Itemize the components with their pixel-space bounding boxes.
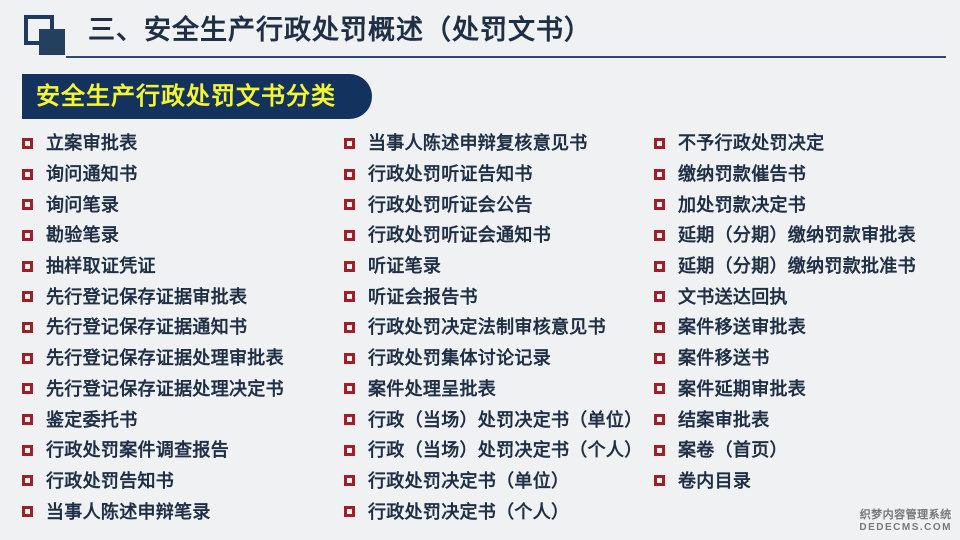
list-item[interactable]: 立案审批表 <box>22 128 342 159</box>
list-item-label: 当事人陈述申辩复核意见书 <box>368 132 588 154</box>
list-item-label: 延期（分期）缴纳罚款批准书 <box>678 255 916 277</box>
list-item-label: 行政（当场）处罚决定书（个人） <box>368 439 643 461</box>
hollow-square-bullet-icon <box>654 230 665 241</box>
hollow-square-bullet-icon <box>654 475 665 486</box>
list-item[interactable]: 延期（分期）缴纳罚款审批表 <box>654 220 954 251</box>
list-item[interactable]: 行政（当场）处罚决定书（个人） <box>344 435 654 466</box>
list-item-label: 询问笔录 <box>46 194 119 216</box>
hollow-square-bullet-icon <box>654 199 665 210</box>
list-item-label: 文书送达回执 <box>678 286 788 308</box>
watermark-en-text: DEDECMS.COM <box>859 522 952 534</box>
hollow-square-bullet-icon <box>22 169 33 180</box>
list-item[interactable]: 案卷（首页） <box>654 435 954 466</box>
hollow-square-bullet-icon <box>344 322 355 333</box>
list-item-label: 抽样取证凭证 <box>46 255 156 277</box>
watermark: 织梦内容管理系统 DEDECMS.COM <box>859 509 952 534</box>
hollow-square-bullet-icon <box>344 230 355 241</box>
list-item[interactable]: 卷内目录 <box>654 466 954 497</box>
list-item-label: 鉴定委托书 <box>46 409 138 431</box>
hollow-square-bullet-icon <box>22 291 33 302</box>
hollow-square-bullet-icon <box>344 445 355 456</box>
overlapping-squares-icon <box>24 15 68 57</box>
list-item[interactable]: 行政（当场）处罚决定书（单位） <box>344 404 654 435</box>
hollow-square-bullet-icon <box>344 169 355 180</box>
list-item[interactable]: 行政处罚决定书（单位） <box>344 466 654 497</box>
slide-root: 三、安全生产行政处罚概述（处罚文书） 安全生产行政处罚文书分类 立案审批表询问通… <box>0 0 960 540</box>
list-item[interactable]: 先行登记保存证据通知书 <box>22 312 342 343</box>
list-item-label: 案件处理呈批表 <box>368 378 496 400</box>
hollow-square-bullet-icon <box>654 383 665 394</box>
list-item-label: 行政处罚集体讨论记录 <box>368 347 551 369</box>
list-item[interactable]: 加处罚款决定书 <box>654 189 954 220</box>
hollow-square-bullet-icon <box>22 138 33 149</box>
list-item-label: 不予行政处罚决定 <box>678 132 824 154</box>
document-list-columns: 立案审批表询问通知书询问笔录勘验笔录抽样取证凭证先行登记保存证据审批表先行登记保… <box>0 128 960 528</box>
list-item-label: 听证会报告书 <box>368 286 478 308</box>
hollow-square-bullet-icon <box>22 353 33 364</box>
list-item[interactable]: 询问通知书 <box>22 159 342 190</box>
list-item-label: 案件移送书 <box>678 347 770 369</box>
list-item[interactable]: 结案审批表 <box>654 404 954 435</box>
list-item[interactable]: 行政处罚听证告知书 <box>344 159 654 190</box>
hollow-square-bullet-icon <box>654 353 665 364</box>
list-item[interactable]: 行政处罚决定法制审核意见书 <box>344 312 654 343</box>
hollow-square-bullet-icon <box>344 475 355 486</box>
list-item-label: 案卷（首页） <box>678 439 788 461</box>
header-divider <box>66 56 946 58</box>
list-item[interactable]: 行政处罚听证会公告 <box>344 189 654 220</box>
hollow-square-bullet-icon <box>654 169 665 180</box>
list-item-label: 先行登记保存证据处理决定书 <box>46 378 284 400</box>
hollow-square-bullet-icon <box>344 383 355 394</box>
list-item[interactable]: 延期（分期）缴纳罚款批准书 <box>654 251 954 282</box>
hollow-square-bullet-icon <box>22 506 33 517</box>
list-item-label: 勘验笔录 <box>46 224 119 246</box>
slide-header: 三、安全生产行政处罚概述（处罚文书） <box>0 0 960 60</box>
list-item-label: 案件延期审批表 <box>678 378 806 400</box>
list-item[interactable]: 听证笔录 <box>344 251 654 282</box>
list-item[interactable]: 行政处罚听证会通知书 <box>344 220 654 251</box>
hollow-square-bullet-icon <box>22 230 33 241</box>
hollow-square-bullet-icon <box>22 199 33 210</box>
list-item[interactable]: 询问笔录 <box>22 189 342 220</box>
hollow-square-bullet-icon <box>344 506 355 517</box>
list-item-label: 行政处罚决定法制审核意见书 <box>368 316 606 338</box>
list-item[interactable]: 文书送达回执 <box>654 281 954 312</box>
hollow-square-bullet-icon <box>344 414 355 425</box>
hollow-square-bullet-icon <box>654 445 665 456</box>
list-item-label: 加处罚款决定书 <box>678 194 806 216</box>
list-item[interactable]: 行政处罚集体讨论记录 <box>344 343 654 374</box>
list-item[interactable]: 当事人陈述申辩笔录 <box>22 496 342 527</box>
hollow-square-bullet-icon <box>22 445 33 456</box>
hollow-square-bullet-icon <box>654 261 665 272</box>
page-title: 三、安全生产行政处罚概述（处罚文书） <box>88 13 592 47</box>
hollow-square-bullet-icon <box>654 414 665 425</box>
list-item[interactable]: 抽样取证凭证 <box>22 251 342 282</box>
list-item[interactable]: 不予行政处罚决定 <box>654 128 954 159</box>
list-item[interactable]: 缴纳罚款催告书 <box>654 159 954 190</box>
hollow-square-bullet-icon <box>344 291 355 302</box>
hollow-square-bullet-icon <box>654 322 665 333</box>
list-item[interactable]: 当事人陈述申辩复核意见书 <box>344 128 654 159</box>
document-column-2: 当事人陈述申辩复核意见书行政处罚听证告知书行政处罚听证会公告行政处罚听证会通知书… <box>344 128 654 527</box>
list-item[interactable]: 听证会报告书 <box>344 281 654 312</box>
list-item-label: 缴纳罚款催告书 <box>678 163 806 185</box>
list-item[interactable]: 行政处罚案件调查报告 <box>22 435 342 466</box>
list-item[interactable]: 勘验笔录 <box>22 220 342 251</box>
list-item-label: 行政处罚决定书（个人） <box>368 501 569 523</box>
list-item[interactable]: 案件延期审批表 <box>654 374 954 405</box>
list-item[interactable]: 鉴定委托书 <box>22 404 342 435</box>
list-item-label: 行政处罚听证会通知书 <box>368 224 551 246</box>
section-banner-label: 安全生产行政处罚文书分类 <box>36 83 336 111</box>
list-item[interactable]: 行政处罚决定书（个人） <box>344 496 654 527</box>
hollow-square-bullet-icon <box>22 261 33 272</box>
hollow-square-bullet-icon <box>344 353 355 364</box>
list-item[interactable]: 先行登记保存证据审批表 <box>22 281 342 312</box>
hollow-square-bullet-icon <box>22 383 33 394</box>
list-item-label: 案件移送审批表 <box>678 316 806 338</box>
hollow-square-bullet-icon <box>654 138 665 149</box>
hollow-square-bullet-icon <box>22 414 33 425</box>
hollow-square-bullet-icon <box>344 138 355 149</box>
list-item-label: 听证笔录 <box>368 255 441 277</box>
watermark-cn-text: 织梦内容管理系统 <box>859 509 952 522</box>
document-column-3: 不予行政处罚决定缴纳罚款催告书加处罚款决定书延期（分期）缴纳罚款审批表延期（分期… <box>654 128 954 496</box>
list-item[interactable]: 案件移送书 <box>654 343 954 374</box>
list-item[interactable]: 案件移送审批表 <box>654 312 954 343</box>
list-item-label: 延期（分期）缴纳罚款审批表 <box>678 224 916 246</box>
list-item-label: 行政处罚决定书（单位） <box>368 470 569 492</box>
list-item-label: 卷内目录 <box>678 470 751 492</box>
list-item-label: 先行登记保存证据处理审批表 <box>46 347 284 369</box>
list-item-label: 先行登记保存证据通知书 <box>46 316 247 338</box>
hollow-square-bullet-icon <box>344 261 355 272</box>
list-item-label: 询问通知书 <box>46 163 138 185</box>
list-item[interactable]: 先行登记保存证据处理审批表 <box>22 343 342 374</box>
list-item-label: 立案审批表 <box>46 132 138 154</box>
hollow-square-bullet-icon <box>22 475 33 486</box>
section-banner: 安全生产行政处罚文书分类 <box>22 74 372 119</box>
list-item-label: 行政处罚告知书 <box>46 470 174 492</box>
square-filled-shape <box>39 29 65 55</box>
hollow-square-bullet-icon <box>654 291 665 302</box>
list-item[interactable]: 案件处理呈批表 <box>344 374 654 405</box>
list-item-label: 先行登记保存证据审批表 <box>46 286 247 308</box>
hollow-square-bullet-icon <box>344 199 355 210</box>
list-item-label: 行政处罚案件调查报告 <box>46 439 229 461</box>
list-item[interactable]: 行政处罚告知书 <box>22 466 342 497</box>
list-item-label: 当事人陈述申辩笔录 <box>46 501 211 523</box>
list-item-label: 行政处罚听证会公告 <box>368 194 533 216</box>
hollow-square-bullet-icon <box>22 322 33 333</box>
list-item-label: 行政（当场）处罚决定书（单位） <box>368 409 643 431</box>
document-column-1: 立案审批表询问通知书询问笔录勘验笔录抽样取证凭证先行登记保存证据审批表先行登记保… <box>22 128 342 527</box>
list-item-label: 结案审批表 <box>678 409 770 431</box>
list-item-label: 行政处罚听证告知书 <box>368 163 533 185</box>
list-item[interactable]: 先行登记保存证据处理决定书 <box>22 374 342 405</box>
